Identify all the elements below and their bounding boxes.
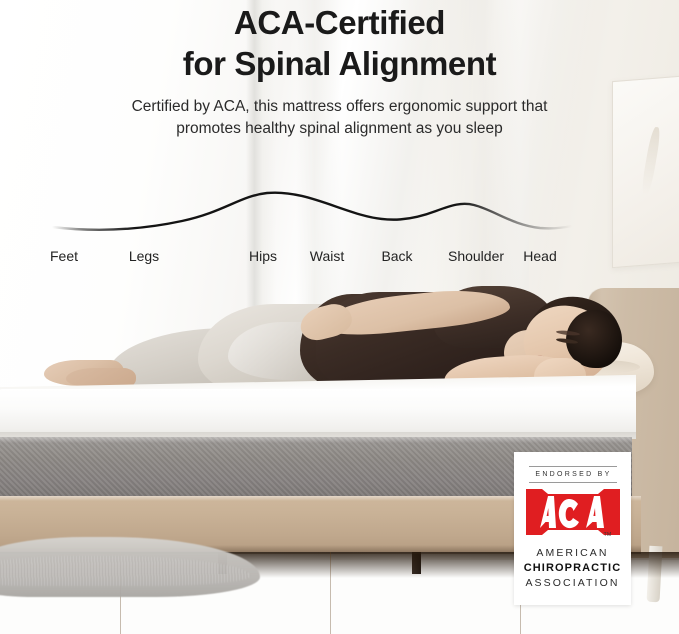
floor-plank-seam [330,552,331,634]
aca-endorsement-badge: ENDORSED BY TM AMERICAN [514,452,631,605]
aca-logo-mark: TM [526,489,620,535]
endorsed-rule-bottom [529,482,617,483]
headline-line-1: ACA-Certified [0,0,679,43]
spine-label-hips: Hips [249,248,277,264]
subtitle-line-2: promotes healthy spinal alignment as you… [0,118,679,140]
spine-label-row: FeetLegsHipsWaistBackShoulderHead [0,248,679,272]
subtitle-block: Certified by ACA, this mattress offers e… [0,96,679,140]
org-line-american: AMERICAN [524,546,622,561]
endorsed-by-block: ENDORSED BY [529,466,617,483]
organization-name: AMERICAN CHIROPRACTIC ASSOCIATION [524,546,622,591]
spine-label-feet: Feet [50,248,78,264]
spine-label-legs: Legs [129,248,159,264]
spine-label-back: Back [381,248,412,264]
spine-label-head: Head [523,248,556,264]
endorsed-by-label: ENDORSED BY [529,467,617,482]
spinal-alignment-diagram: FeetLegsHipsWaistBackShoulderHead [0,170,679,275]
org-line-association: ASSOCIATION [524,576,622,591]
headline-line-2: for Spinal Alignment [0,43,679,84]
headline-block: ACA-Certified for Spinal Alignment [0,0,679,84]
spine-curve-graphic [0,170,679,250]
mattress-base-highlight [0,437,632,443]
spine-label-waist: Waist [310,248,344,264]
spine-label-shoulder: Shoulder [448,248,504,264]
subtitle-line-1: Certified by ACA, this mattress offers e… [0,96,679,118]
promo-image: ACA-Certified for Spinal Alignment Certi… [0,0,679,634]
trademark-symbol: TM [604,532,612,538]
aca-logo-icon [526,489,620,535]
org-line-chiropractic: CHIROPRACTIC [524,561,622,576]
